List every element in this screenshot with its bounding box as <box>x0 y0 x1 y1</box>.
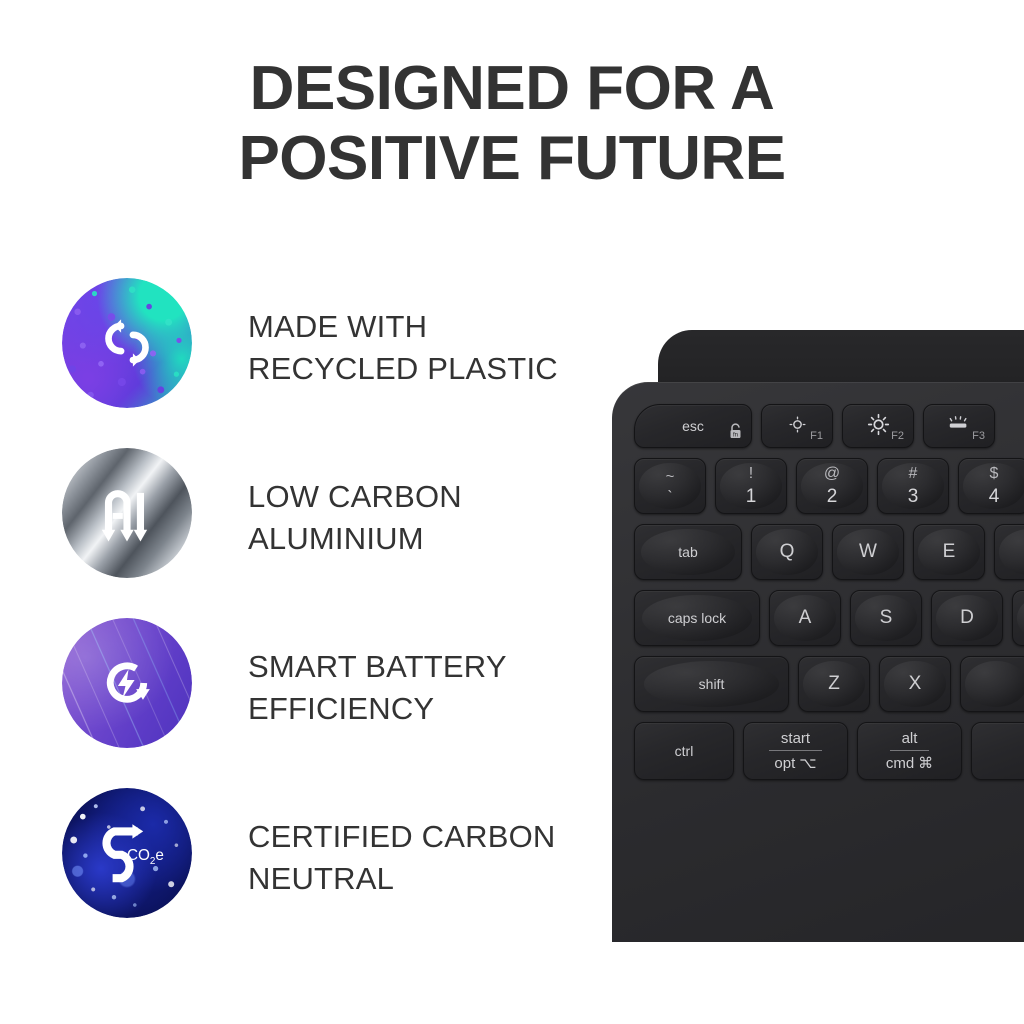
key-f[interactable] <box>1012 590 1024 646</box>
feature-line-1: MADE WITH <box>248 306 608 348</box>
brightness-down-icon <box>787 414 808 435</box>
carbon-neutral-co2e-icon: CO2e <box>62 788 192 918</box>
key-1[interactable]: ! 1 <box>715 458 787 514</box>
key-f1-brightness-down[interactable]: F1 <box>761 404 833 448</box>
key-a[interactable]: A <box>769 590 841 646</box>
feature-item-low-carbon-aluminium: LOW CARBON ALUMINIUM <box>62 448 602 618</box>
keyboard-function-row: esc fn <box>634 404 1024 448</box>
key-tag-f1: F1 <box>810 430 823 442</box>
key-f2-brightness-up[interactable]: F2 <box>842 404 914 448</box>
key-d[interactable]: D <box>931 590 1003 646</box>
key-space-partial[interactable] <box>971 722 1024 780</box>
badge-smart-battery-efficiency <box>62 618 192 748</box>
feature-line-1: CERTIFIED CARBON <box>248 816 608 858</box>
feature-line-2: EFFICIENCY <box>248 688 608 730</box>
key-q[interactable]: Q <box>751 524 823 580</box>
feature-line-2: RECYCLED PLASTIC <box>248 348 608 390</box>
key-e[interactable]: E <box>913 524 985 580</box>
feature-item-recycled-plastic: MADE WITH RECYCLED PLASTIC <box>62 278 602 448</box>
key-opt-legend: opt ⌥ <box>774 751 816 772</box>
keyboard-modifier-row: ctrl start opt ⌥ alt cmd ⌘ <box>634 722 1024 780</box>
key-3[interactable]: # 3 <box>877 458 949 514</box>
key-f3-keyboard-backlight[interactable]: F3 <box>923 404 995 448</box>
badge-certified-carbon-neutral: CO2e <box>62 788 192 918</box>
keyboard-home-row: caps lock A S D <box>634 590 1024 646</box>
option-symbol-icon: ⌥ <box>799 754 816 772</box>
key-backtick[interactable]: ~ ` <box>634 458 706 514</box>
feature-label-smart-battery-efficiency: SMART BATTERY EFFICIENCY <box>248 646 608 730</box>
key-shift[interactable]: shift <box>634 656 789 712</box>
keyboard-backlight-icon <box>947 415 971 433</box>
badge-low-carbon-aluminium <box>62 448 192 578</box>
headline-line-2: POSITIVE FUTURE <box>0 124 1024 194</box>
feature-line-2: NEUTRAL <box>248 858 608 900</box>
key-tag-f2: F2 <box>891 430 904 442</box>
feature-item-smart-battery-efficiency: SMART BATTERY EFFICIENCY <box>62 618 602 788</box>
keyboard-number-row: ~ ` ! 1 @ 2 # 3 <box>634 458 1024 514</box>
key-alt-cmd[interactable]: alt cmd ⌘ <box>857 722 962 780</box>
key-ctrl[interactable]: ctrl <box>634 722 734 780</box>
aluminium-down-arrows-icon <box>62 448 192 578</box>
page-title: DESIGNED FOR A POSITIVE FUTURE <box>0 54 1024 194</box>
command-symbol-icon: ⌘ <box>918 754 933 772</box>
feature-label-recycled-plastic: MADE WITH RECYCLED PLASTIC <box>248 306 608 390</box>
key-w[interactable]: W <box>832 524 904 580</box>
badge-recycled-plastic <box>62 278 192 408</box>
key-z[interactable]: Z <box>798 656 870 712</box>
brightness-up-icon <box>867 413 890 436</box>
key-2[interactable]: @ 2 <box>796 458 868 514</box>
svg-text:CO2e: CO2e <box>127 847 164 867</box>
key-cmd-legend: cmd ⌘ <box>886 751 933 772</box>
keyboard-body: esc fn <box>612 382 1024 942</box>
feature-list: MADE WITH RECYCLED PLASTIC <box>62 278 602 958</box>
key-esc[interactable]: esc fn <box>634 404 752 448</box>
feature-item-certified-carbon-neutral: CO2e CERTIFIED CARBON NEUTRAL <box>62 788 602 958</box>
feature-line-1: LOW CARBON <box>248 476 608 518</box>
key-start-opt[interactable]: start opt ⌥ <box>743 722 848 780</box>
key-tag-f3: F3 <box>972 430 985 442</box>
fn-lock-icon: fn <box>728 423 743 442</box>
keyboard-product-image: esc fn <box>598 330 1024 930</box>
recycle-loop-icon <box>62 278 192 408</box>
keyboard-top-row: tab Q W E <box>634 524 1024 580</box>
headline-line-1: DESIGNED FOR A <box>0 54 1024 124</box>
key-x[interactable]: X <box>879 656 951 712</box>
key-tab[interactable]: tab <box>634 524 742 580</box>
keyboard-key-grid: esc fn <box>634 404 1024 790</box>
key-s[interactable]: S <box>850 590 922 646</box>
battery-bolt-refresh-icon <box>62 618 192 748</box>
key-c[interactable] <box>960 656 1024 712</box>
feature-label-certified-carbon-neutral: CERTIFIED CARBON NEUTRAL <box>248 816 608 900</box>
key-caps-lock[interactable]: caps lock <box>634 590 760 646</box>
key-4[interactable]: $ 4 <box>958 458 1024 514</box>
key-r[interactable] <box>994 524 1024 580</box>
keyboard-bottom-letter-row: shift Z X <box>634 656 1024 712</box>
product-feature-graphic: DESIGNED FOR A POSITIVE FUTURE <box>0 0 1024 1024</box>
svg-text:fn: fn <box>733 432 738 438</box>
feature-line-2: ALUMINIUM <box>248 518 608 560</box>
feature-label-low-carbon-aluminium: LOW CARBON ALUMINIUM <box>248 476 608 560</box>
feature-line-1: SMART BATTERY <box>248 646 608 688</box>
